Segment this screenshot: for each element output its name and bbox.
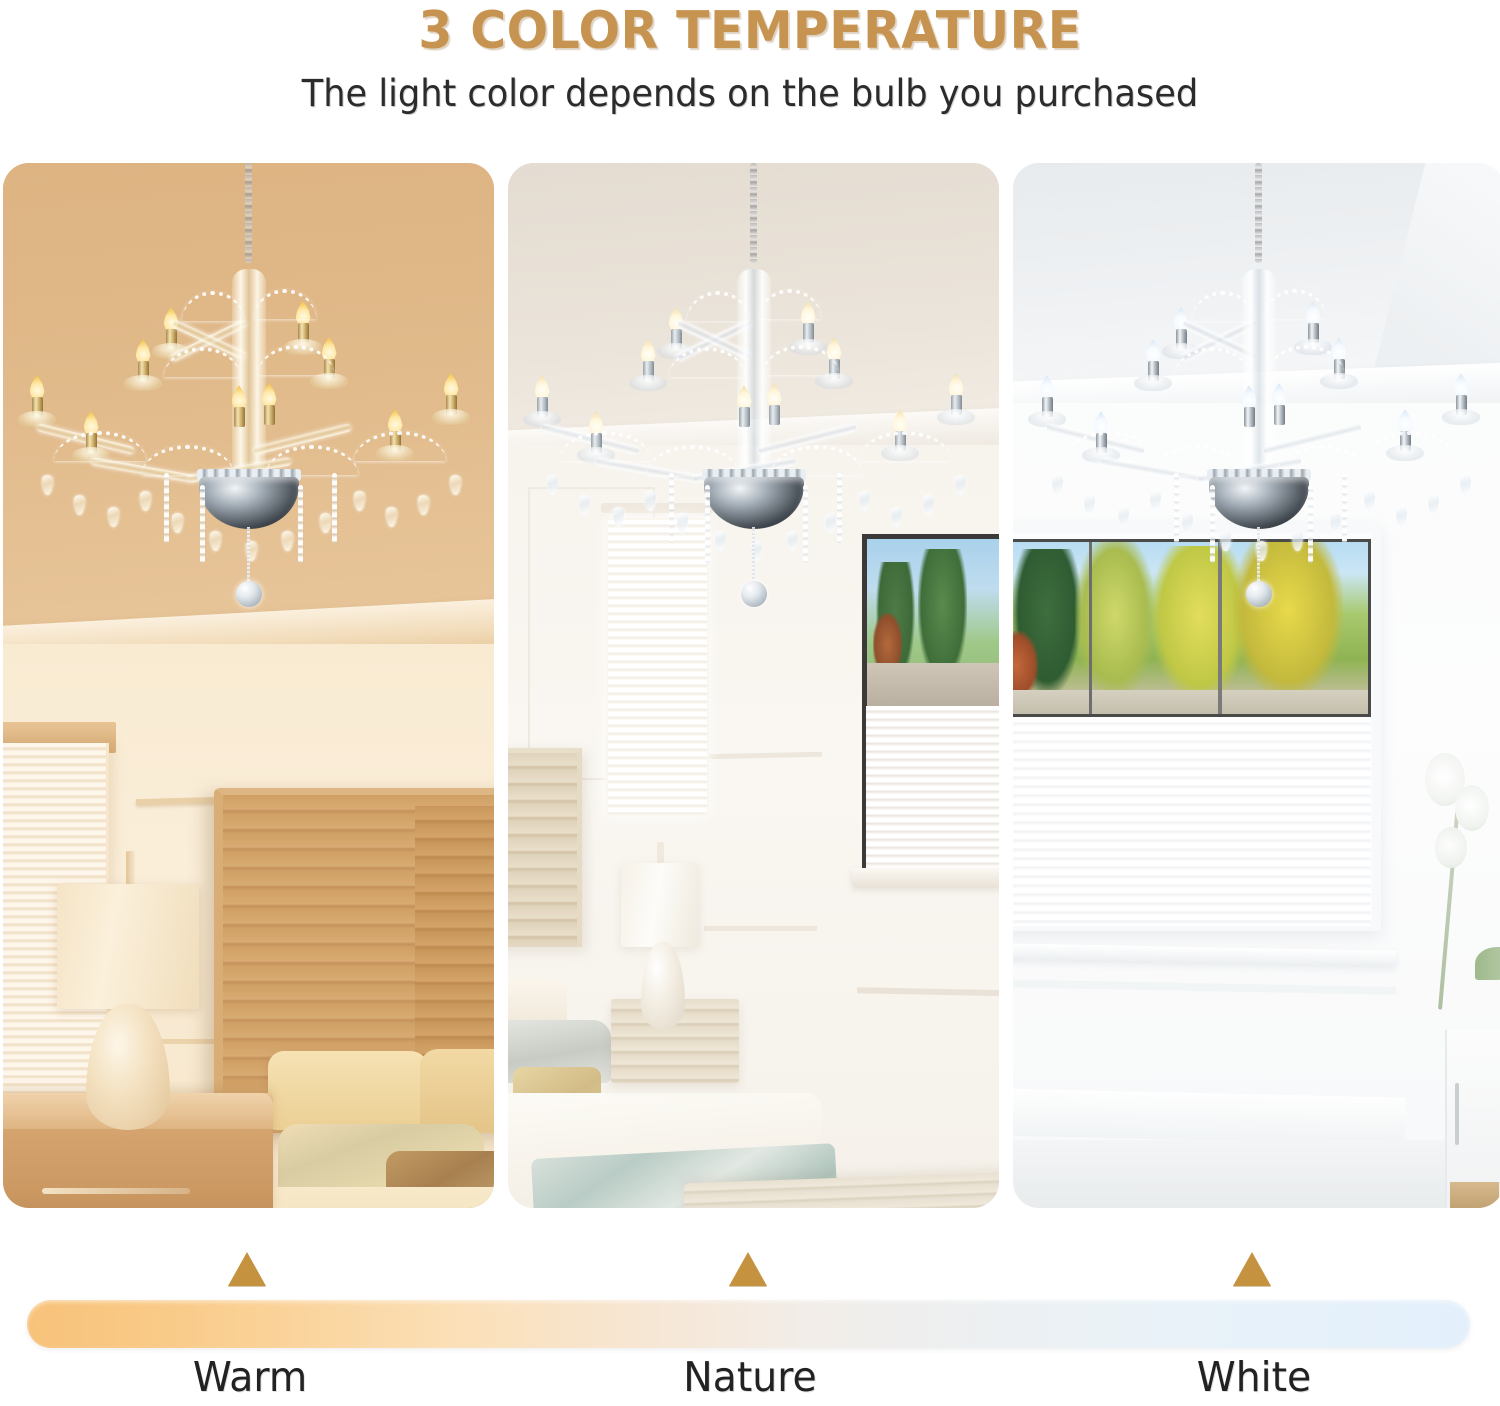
bulb-holder	[124, 375, 162, 391]
color-temperature-gradient-bar	[27, 1300, 1470, 1348]
crystal-droplet	[579, 495, 590, 515]
chandelier-bowl	[1209, 477, 1309, 529]
crystal-bead-string	[1174, 473, 1179, 543]
crystal-droplet	[547, 475, 558, 495]
temperature-labels: Warm Nature White	[0, 1352, 1500, 1406]
bulb-socket	[739, 407, 750, 427]
window-blind	[1013, 717, 1371, 926]
bulb	[639, 339, 658, 379]
bulb	[1270, 383, 1289, 423]
temperature-markers	[0, 1252, 1500, 1288]
crystal-droplet	[1150, 491, 1161, 511]
panel-white[interactable]	[1013, 163, 1500, 1208]
finial-ball	[741, 581, 767, 607]
bulb	[230, 385, 249, 425]
crystal-droplet	[825, 513, 836, 533]
bulb	[1144, 339, 1163, 379]
crystal-droplet	[1428, 495, 1439, 515]
crystal-bead-string	[1210, 485, 1215, 563]
photo-panel-row	[3, 163, 1497, 1208]
panel-nature[interactable]	[508, 163, 999, 1208]
crystal-droplet	[715, 531, 726, 551]
triangle-up-icon	[729, 1252, 767, 1286]
crystal-droplet	[42, 475, 53, 495]
bulb-holder	[310, 373, 348, 389]
bulb-socket	[769, 405, 780, 425]
bulb-holder	[18, 411, 56, 427]
bulb-holder	[1442, 409, 1480, 425]
bulb	[1038, 375, 1057, 415]
pillow	[420, 1049, 494, 1133]
wall-molding	[704, 926, 817, 931]
chandelier-bowl	[704, 477, 804, 529]
bulb-socket	[1274, 405, 1285, 425]
orchid-flower	[1435, 827, 1466, 869]
baseboard	[1013, 1088, 1406, 1144]
crystal-bead-string	[669, 473, 674, 543]
crystal-bead-string	[298, 485, 303, 563]
crystal-droplet	[1118, 507, 1129, 527]
page-title: 3 COLOR TEMPERATURE	[45, 2, 1455, 60]
crystal-bead-string	[837, 473, 842, 543]
crystal-droplet	[450, 475, 461, 495]
crystal-bead-string	[164, 473, 169, 543]
lamp-shade	[57, 884, 199, 1009]
bulb-holder	[432, 409, 470, 425]
label-white: White	[1197, 1352, 1311, 1402]
triangle-up-icon	[1233, 1252, 1271, 1286]
chandelier-body	[14, 255, 484, 555]
cabinet-handle	[1455, 1083, 1459, 1146]
label-nature: Nature	[683, 1352, 816, 1402]
crystal-droplet	[386, 507, 397, 527]
floor	[1013, 1140, 1500, 1208]
crystal-swag	[354, 431, 446, 461]
bed	[263, 1187, 494, 1208]
crystal-droplet	[1396, 507, 1407, 527]
crystal-droplet	[1052, 475, 1063, 495]
cabinet-base	[1450, 1182, 1499, 1208]
crystal-bead-string	[803, 485, 808, 563]
crystal-droplet	[140, 491, 151, 511]
crystal-bead-string	[1308, 485, 1313, 563]
crystal-droplet	[859, 491, 870, 511]
bulb	[1240, 385, 1259, 425]
finial-ball	[1246, 581, 1272, 607]
bulb-holder	[1134, 375, 1172, 391]
bulb	[442, 373, 461, 413]
bulb-socket	[264, 405, 275, 425]
crystal-droplet	[354, 491, 365, 511]
bulb	[735, 385, 754, 425]
bulb-holder	[815, 373, 853, 389]
crystal-droplet	[677, 513, 688, 533]
finial-wire	[247, 527, 250, 585]
pillow	[268, 1051, 430, 1129]
crystal-droplet	[1220, 531, 1231, 551]
chandelier-chain	[245, 163, 252, 263]
crystal-droplet	[1460, 475, 1471, 495]
label-warm: Warm	[193, 1352, 307, 1402]
bulb-socket	[1244, 407, 1255, 427]
bulb-holder	[1028, 411, 1066, 427]
window-sill	[852, 868, 999, 887]
crystal-droplet	[74, 495, 85, 515]
bulb	[28, 375, 47, 415]
crystal-droplet	[210, 531, 221, 551]
crystal-droplet	[613, 507, 624, 527]
drawer-handle	[42, 1188, 189, 1194]
crystal-droplet	[891, 507, 902, 527]
crystal-droplet	[282, 531, 293, 551]
chandelier-body	[1024, 255, 1494, 555]
crystal-swag	[1364, 431, 1456, 461]
bulb	[1452, 373, 1471, 413]
chandelier-body	[519, 255, 989, 555]
chandelier-white	[1024, 163, 1494, 703]
crystal-droplet	[1182, 513, 1193, 533]
crystal-droplet	[1292, 531, 1303, 551]
orchid-flower	[1455, 785, 1489, 831]
crystal-droplet	[320, 513, 331, 533]
bed-headboard	[508, 748, 582, 947]
chandelier-bowl	[199, 477, 299, 529]
crystal-droplet	[108, 507, 119, 527]
bulb-holder	[629, 375, 667, 391]
crystal-bead-string	[1342, 473, 1347, 543]
page-subtitle: The light color depends on the bulb you …	[38, 70, 1463, 118]
chandelier-warm	[14, 163, 484, 703]
bulb-holder	[1320, 373, 1358, 389]
crystal-droplet	[955, 475, 966, 495]
finial-ball	[236, 581, 262, 607]
bulb	[134, 339, 153, 379]
crystal-droplet	[923, 495, 934, 515]
crystal-droplet	[418, 495, 429, 515]
bulb-holder	[523, 411, 561, 427]
triangle-up-icon	[228, 1252, 266, 1286]
bulb	[533, 375, 552, 415]
crystal-droplet	[1330, 513, 1341, 533]
crystal-bead-string	[200, 485, 205, 563]
chandelier-nature	[519, 163, 989, 703]
chandelier-chain	[1255, 163, 1262, 263]
finial-wire	[752, 527, 755, 585]
crystal-bead-string	[332, 473, 337, 543]
bulb	[947, 373, 966, 413]
crystal-droplet	[1084, 495, 1095, 515]
window-blind-right	[862, 706, 999, 868]
chandelier-chain	[750, 163, 757, 263]
bulb-socket	[234, 407, 245, 427]
crystal-droplet	[172, 513, 183, 533]
crystal-droplet	[787, 531, 798, 551]
finial-wire	[1257, 527, 1260, 585]
crystal-droplet	[645, 491, 656, 511]
crystal-bead-string	[705, 485, 710, 563]
bulb	[260, 383, 279, 423]
panel-warm[interactable]	[3, 163, 494, 1208]
crystal-droplet	[1364, 491, 1375, 511]
lamp-shade	[621, 863, 700, 947]
infographic-header: 3 COLOR TEMPERATURE The light color depe…	[0, 0, 1500, 118]
bulb	[765, 383, 784, 423]
crystal-swag	[859, 431, 951, 461]
bulb-holder	[937, 409, 975, 425]
